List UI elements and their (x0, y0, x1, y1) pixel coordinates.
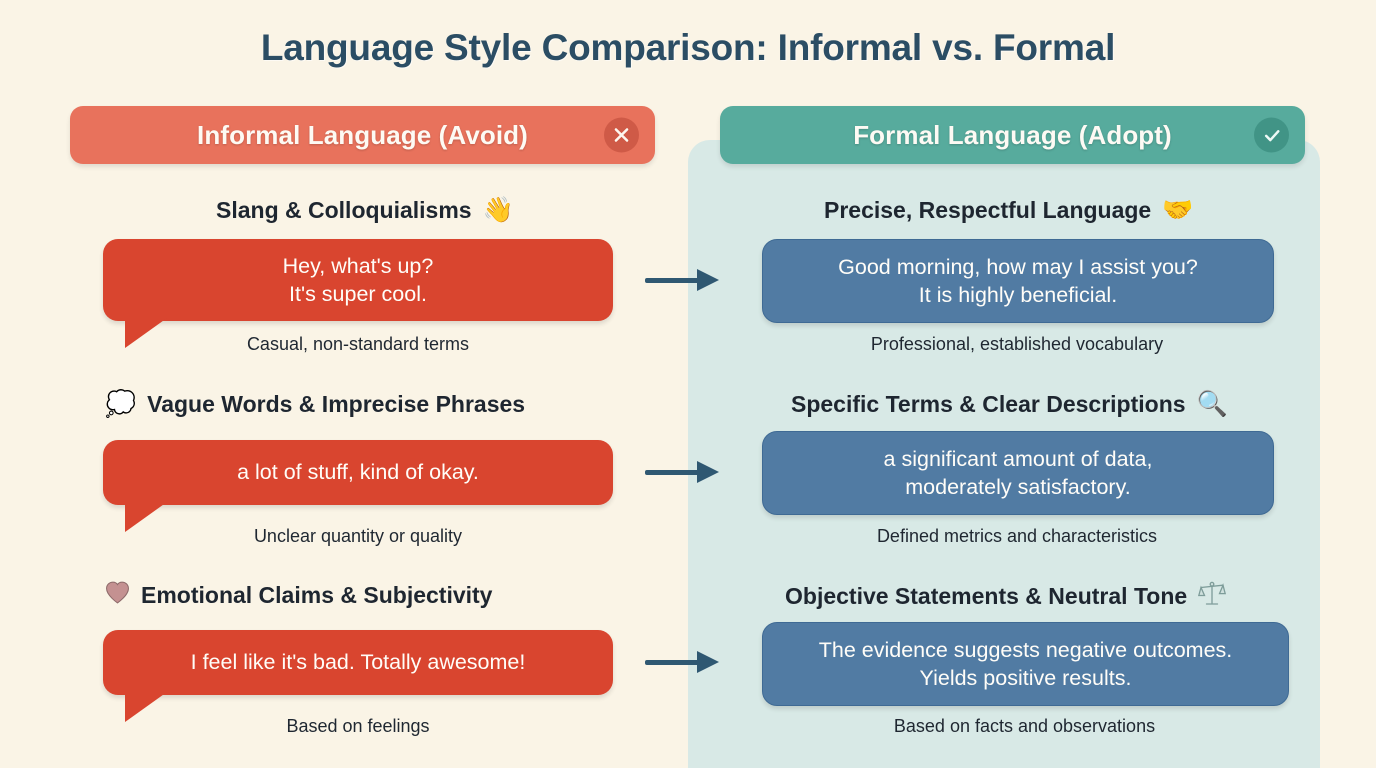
informal-example-text-2: a lot of stuff, kind of okay. (237, 458, 479, 486)
formal-heading-1: Precise, Respectful Language 🤝 (824, 197, 1193, 224)
informal-heading-3: Emotional Claims & Subjectivity (105, 581, 492, 609)
transform-arrow-2 (645, 459, 723, 485)
informal-column-header: Informal Language (Avoid) (70, 106, 655, 164)
informal-column-label: Informal Language (Avoid) (197, 120, 528, 151)
thought-balloon-icon: 💭 (105, 392, 136, 417)
waving-hand-icon: 👋 (483, 198, 514, 223)
arrow-head (697, 269, 719, 291)
formal-heading-2: Specific Terms & Clear Descriptions 🔍 (791, 391, 1228, 418)
formal-column-label: Formal Language (Adopt) (853, 120, 1172, 151)
balance-scales-icon (1198, 581, 1226, 612)
informal-heading-text-3: Emotional Claims & Subjectivity (141, 582, 492, 609)
check-icon (1254, 118, 1289, 153)
informal-example-text-1: Hey, what's up? It's super cool. (283, 252, 434, 309)
arrow-shaft (645, 660, 701, 665)
magnifying-glass-icon: 🔍 (1197, 392, 1228, 417)
formal-example-text-2: a significant amount of data, moderately… (884, 445, 1153, 502)
informal-heading-text-1: Slang & Colloquialisms (216, 197, 472, 224)
formal-caption-3: Based on facts and observations (762, 716, 1287, 737)
informal-caption-1: Casual, non-standard terms (103, 334, 613, 355)
formal-example-text-3: The evidence suggests negative outcomes.… (819, 636, 1233, 693)
transform-arrow-3 (645, 649, 723, 675)
informal-heading-text-2: Vague Words & Imprecise Phrases (147, 391, 525, 418)
informal-heading-1: Slang & Colloquialisms 👋 (216, 197, 514, 224)
formal-example-text-1: Good morning, how may I assist you? It i… (838, 253, 1198, 310)
informal-example-text-3: I feel like it's bad. Totally awesome! (191, 648, 526, 676)
informal-example-bubble-3: I feel like it's bad. Totally awesome! (103, 630, 613, 695)
formal-example-bubble-3: The evidence suggests negative outcomes.… (762, 622, 1289, 706)
arrow-head (697, 461, 719, 483)
handshake-icon: 🤝 (1162, 198, 1193, 223)
cross-icon (604, 118, 639, 153)
formal-example-bubble-1: Good morning, how may I assist you? It i… (762, 239, 1274, 323)
transform-arrow-1 (645, 267, 723, 293)
informal-caption-3: Based on feelings (103, 716, 613, 737)
informal-caption-2: Unclear quantity or quality (103, 526, 613, 547)
formal-heading-text-3: Objective Statements & Neutral Tone (785, 583, 1187, 610)
arrow-shaft (645, 470, 701, 475)
informal-heading-2: 💭 Vague Words & Imprecise Phrases (105, 391, 525, 418)
page-title: Language Style Comparison: Informal vs. … (0, 27, 1376, 69)
informal-example-bubble-1: Hey, what's up? It's super cool. (103, 239, 613, 321)
heart-icon (105, 581, 130, 609)
infographic-canvas: Language Style Comparison: Informal vs. … (0, 0, 1376, 768)
formal-heading-text-2: Specific Terms & Clear Descriptions (791, 391, 1186, 418)
formal-heading-text-1: Precise, Respectful Language (824, 197, 1151, 224)
informal-example-bubble-2: a lot of stuff, kind of okay. (103, 440, 613, 505)
arrow-shaft (645, 278, 701, 283)
formal-example-bubble-2: a significant amount of data, moderately… (762, 431, 1274, 515)
formal-caption-2: Defined metrics and characteristics (762, 526, 1272, 547)
arrow-head (697, 651, 719, 673)
formal-heading-3: Objective Statements & Neutral Tone (785, 581, 1226, 612)
formal-caption-1: Professional, established vocabulary (762, 334, 1272, 355)
formal-column-header: Formal Language (Adopt) (720, 106, 1305, 164)
